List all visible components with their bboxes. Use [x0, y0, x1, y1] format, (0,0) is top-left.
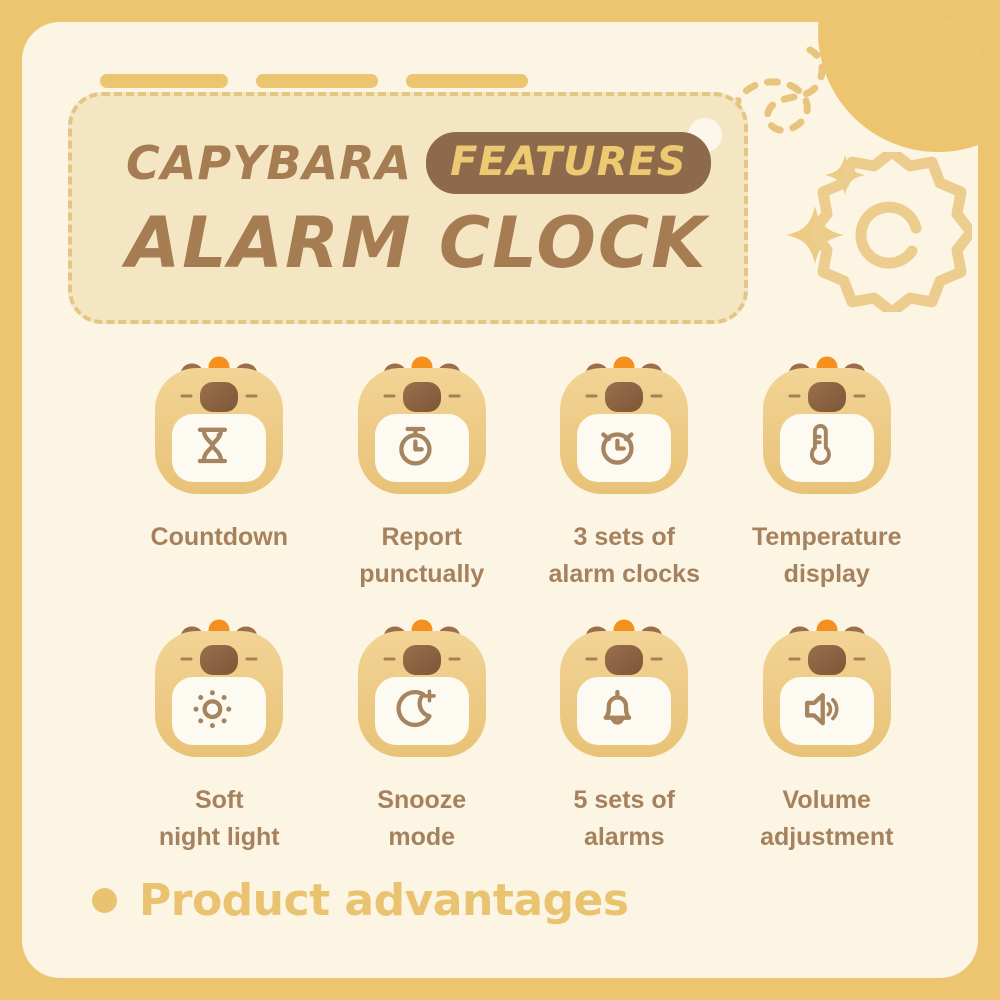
capybara-snout	[808, 645, 846, 675]
capybara-card[interactable]	[752, 352, 902, 507]
feature-item-hourglass[interactable]: Countdown	[118, 352, 321, 593]
feature-label: 3 sets of alarm clocks	[549, 519, 701, 593]
capybara-card[interactable]	[549, 615, 699, 770]
feature-item-moon-plus[interactable]: Snooze mode	[321, 615, 524, 856]
capybara-card[interactable]	[144, 615, 294, 770]
capybara-snout	[605, 645, 643, 675]
capybara-screen	[172, 414, 266, 482]
capybara-device	[347, 615, 497, 770]
page-title: CAPYBARA FEATURES ALARM CLOCK	[126, 130, 726, 284]
capybara-device	[144, 352, 294, 507]
footer-label: Product advantages	[139, 875, 629, 926]
feature-label: Snooze mode	[377, 782, 466, 856]
capybara-device	[144, 615, 294, 770]
capybara-screen	[780, 677, 874, 745]
capybara-device	[549, 352, 699, 507]
top-dash-group	[100, 74, 528, 88]
capybara-device	[347, 352, 497, 507]
capybara-snout	[403, 382, 441, 412]
capybara-device	[752, 615, 902, 770]
capybara-snout	[200, 382, 238, 412]
bullet-dot	[92, 888, 117, 913]
feature-item-thermometer[interactable]: Temperature display	[726, 352, 929, 593]
capybara-device	[752, 352, 902, 507]
poster-card: CAPYBARA FEATURES ALARM CLOCK	[22, 22, 978, 978]
top-dash-2	[256, 74, 378, 88]
sparkle-icon	[822, 152, 868, 198]
feature-label: Report punctually	[359, 519, 484, 593]
top-dash-1	[100, 74, 228, 88]
feature-item-bell[interactable]: 5 sets of alarms	[523, 615, 726, 856]
feature-item-alarm-clock[interactable]: 3 sets of alarm clocks	[523, 352, 726, 593]
top-dash-3	[406, 74, 528, 88]
poster-root: CAPYBARA FEATURES ALARM CLOCK	[0, 0, 1000, 1000]
capybara-snout	[808, 382, 846, 412]
feature-label: 5 sets of alarms	[574, 782, 675, 856]
feature-label: Volume adjustment	[760, 782, 893, 856]
brand-title: CAPYBARA	[126, 136, 412, 190]
header-tag: CAPYBARA FEATURES ALARM CLOCK	[68, 92, 748, 324]
features-badge: FEATURES	[426, 132, 710, 194]
capybara-device	[549, 615, 699, 770]
feature-label: Temperature display	[752, 519, 902, 593]
capybara-snout	[403, 645, 441, 675]
capybara-card[interactable]	[144, 352, 294, 507]
feature-item-stopwatch[interactable]: Report punctually	[321, 352, 524, 593]
capybara-screen	[577, 677, 671, 745]
gear-icon	[812, 152, 972, 312]
feature-label: Soft night light	[159, 782, 280, 856]
capybara-card[interactable]	[549, 352, 699, 507]
features-grid: Countdown	[118, 352, 928, 856]
capybara-card[interactable]	[347, 615, 497, 770]
capybara-snout	[605, 382, 643, 412]
features-badge-label: FEATURES	[450, 139, 686, 185]
footer: Product advantages	[92, 875, 629, 926]
capybara-snout	[200, 645, 238, 675]
feature-item-volume[interactable]: Volume adjustment	[726, 615, 929, 856]
subtitle: ALARM CLOCK	[126, 202, 726, 284]
feature-item-sun[interactable]: Soft night light	[118, 615, 321, 856]
capybara-card[interactable]	[347, 352, 497, 507]
sparkle-icon	[782, 202, 848, 268]
corner-arc-decoration	[818, 22, 978, 152]
capybara-card[interactable]	[752, 615, 902, 770]
feature-label: Countdown	[151, 519, 288, 556]
